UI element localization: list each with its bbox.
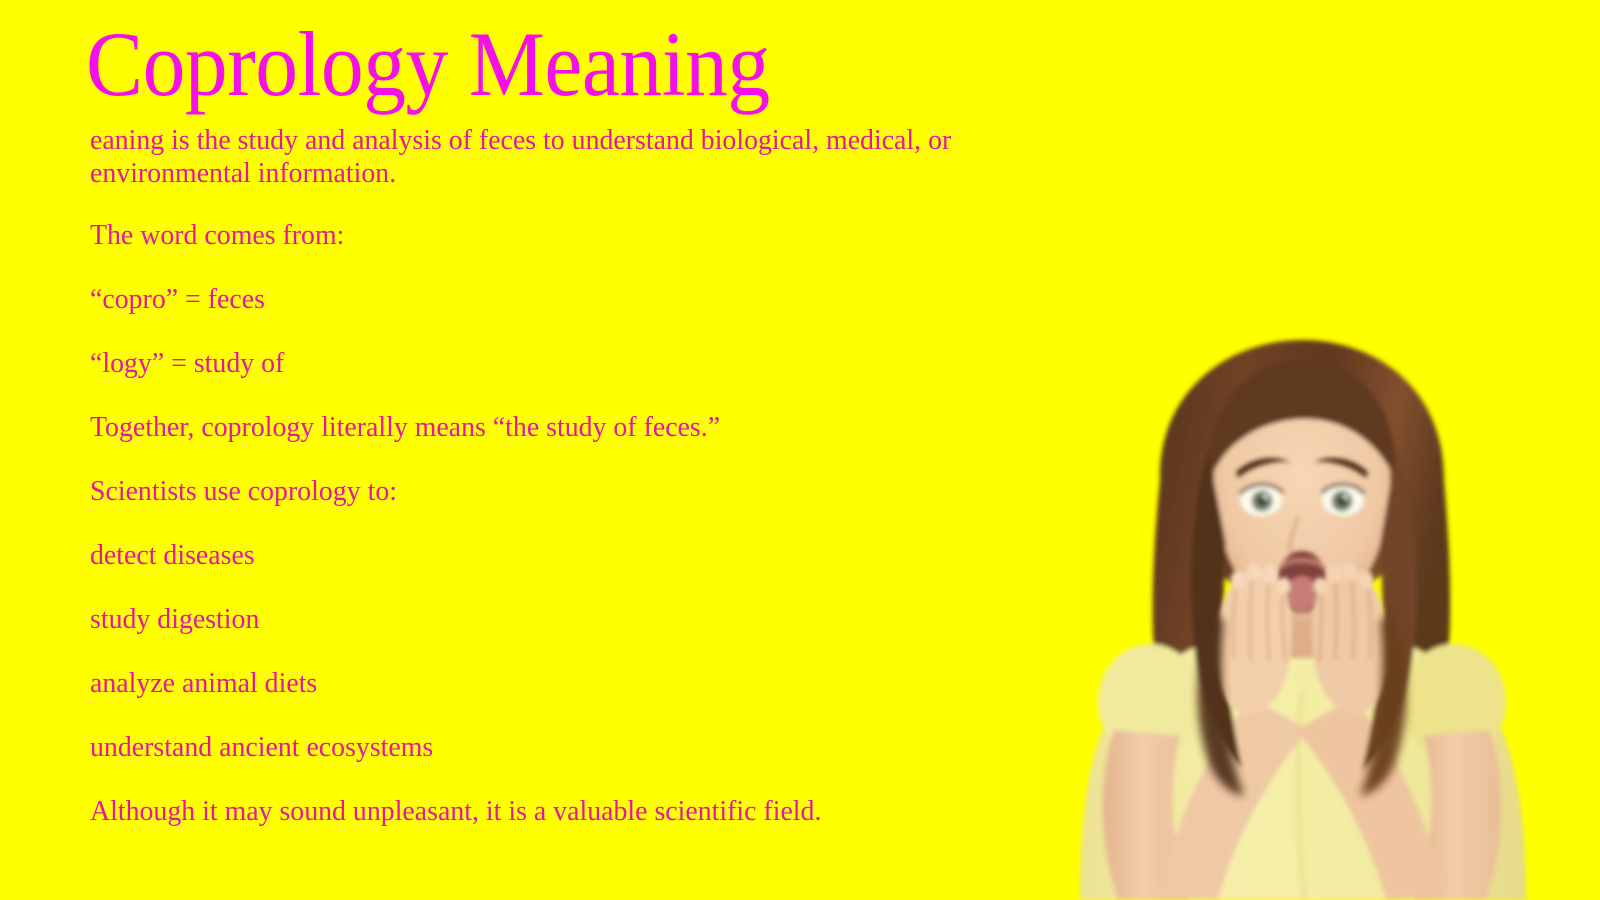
page-title: Coprology Meaning: [86, 16, 770, 112]
paragraph-etymology-intro: The word comes from:: [90, 219, 1040, 252]
body-content: eaning is the study and analysis of fece…: [90, 124, 1080, 828]
slide-canvas: Coprology Meaning eaning is the study an…: [0, 0, 1600, 900]
list-item-analyze-diets: analyze animal diets: [90, 667, 1040, 700]
paragraph-conclusion: Although it may sound unpleasant, it is …: [90, 795, 1040, 828]
paragraph-definition: eaning is the study and analysis of fece…: [90, 124, 1040, 190]
list-item-study-digestion: study digestion: [90, 603, 1040, 636]
paragraph-uses-intro: Scientists use coprology to:: [90, 475, 1040, 508]
paragraph-combined-meaning: Together, coprology literally means “the…: [90, 411, 1040, 444]
list-item-detect-diseases: detect diseases: [90, 539, 1040, 572]
paragraph-root-copro: “copro” = feces: [90, 283, 1040, 316]
paragraph-root-logy: “logy” = study of: [90, 347, 1040, 380]
shocked-woman-photo: [1040, 330, 1560, 900]
list-item-ancient-ecosystems: understand ancient ecosystems: [90, 731, 1040, 764]
